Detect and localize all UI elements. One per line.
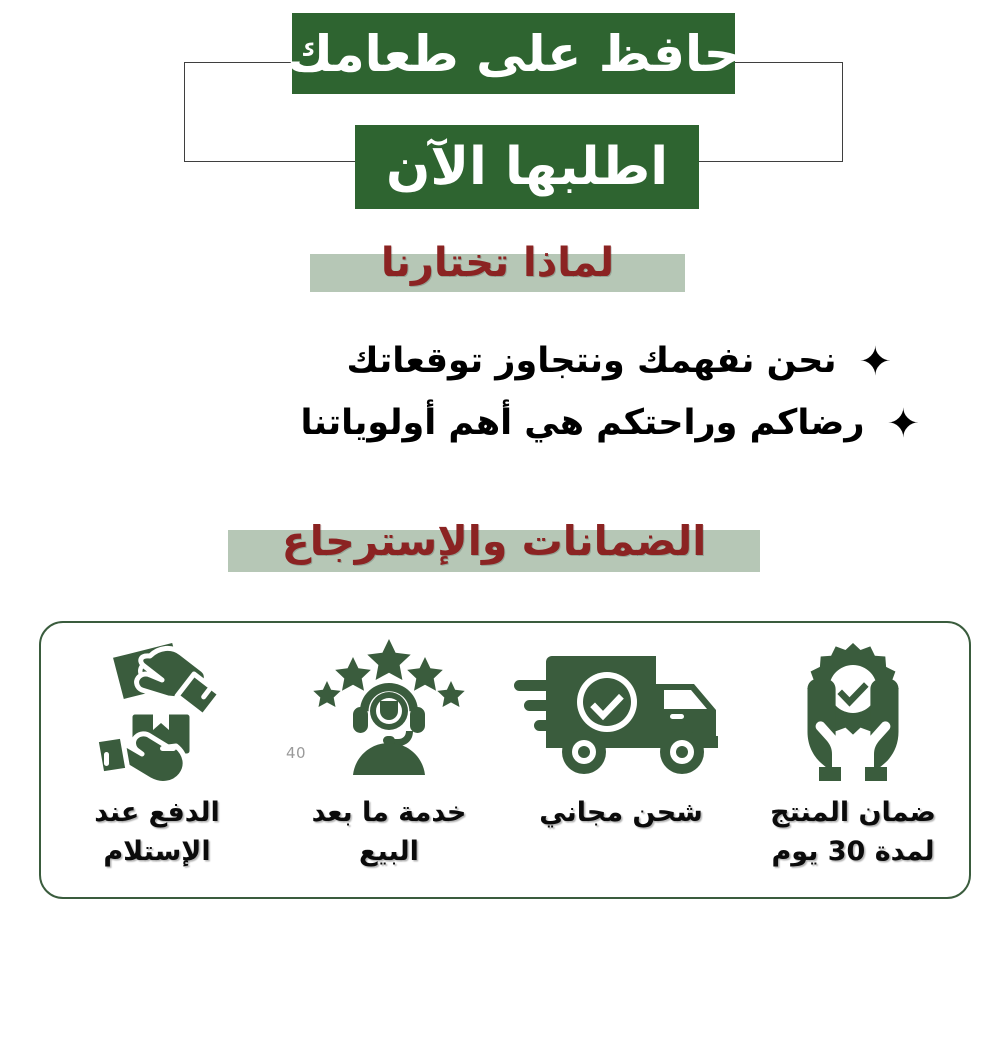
hero-banner-cta-text: اطلبها الآن [386, 137, 668, 197]
feature-label-line-2: لمدة 30 يوم [771, 836, 934, 867]
delivery-truck-check-icon [506, 635, 736, 785]
feature-label-line-1: الدفع عند [94, 797, 220, 828]
feature-item-label: ضمان المنتج لمدة 30 يوم [770, 793, 936, 871]
feature-label-line-1: خدمة ما بعد [312, 797, 467, 828]
hands-holding-badge-check-icon [779, 635, 927, 785]
warranty-heading-text: الضمانات والإسترجاع [282, 517, 707, 565]
list-item-label: نحن نفهمك ونتجاوز توقعاتك [346, 340, 836, 384]
hero-banner-primary-text: حافظ على طعامك [287, 25, 740, 83]
feature-item-label: الدفع عند الإستلام [94, 793, 220, 871]
hero-banner-primary: حافظ على طعامك [292, 13, 735, 94]
list-item: ✦ نحن نفهمك ونتجاوز توقعاتك [0, 340, 1000, 384]
feature-item-product-warranty: ضمان المنتج لمدة 30 يوم [737, 623, 969, 897]
feature-item-after-sales-service: خدمة ما بعد البيع [273, 623, 505, 897]
feature-label-line-1: شحن مجاني [539, 797, 702, 828]
feature-label-line-2: البيع [359, 836, 419, 867]
cash-on-delivery-icon [82, 635, 232, 785]
guarantees-feature-card: ضمان المنتج لمدة 30 يوم [39, 621, 971, 899]
star-bullet-icon: ✦ [858, 342, 892, 382]
list-item: ✦ رضاكم وراحتكم هي أهم أولوياتنا [0, 402, 1000, 446]
feature-label-line-2: الإستلام [103, 836, 210, 867]
warranty-section-heading: الضمانات والإسترجاع [228, 508, 760, 574]
feature-item-label: شحن مجاني [539, 793, 702, 832]
why-heading-text: لماذا تختارنا [381, 240, 614, 286]
feature-item-cash-on-delivery: الدفع عند الإستلام [41, 623, 273, 897]
hero-section: حافظ على طعامك اطلبها الآن [0, 0, 1000, 225]
hero-banner-cta[interactable]: اطلبها الآن [355, 125, 699, 209]
feature-item-free-shipping: شحن مجاني [505, 623, 737, 897]
feature-label-line-1: ضمان المنتج [770, 797, 936, 828]
support-agent-stars-icon [309, 635, 469, 785]
why-bullet-list: ✦ نحن نفهمك ونتجاوز توقعاتك ✦ رضاكم وراح… [0, 340, 1000, 464]
list-item-label: رضاكم وراحتكم هي أهم أولوياتنا [301, 402, 865, 446]
why-section-heading: لماذا تختارنا [310, 232, 685, 294]
star-bullet-icon: ✦ [886, 404, 920, 444]
feature-item-label: خدمة ما بعد البيع [312, 793, 467, 871]
stray-number-artifact: 40 [286, 744, 306, 762]
